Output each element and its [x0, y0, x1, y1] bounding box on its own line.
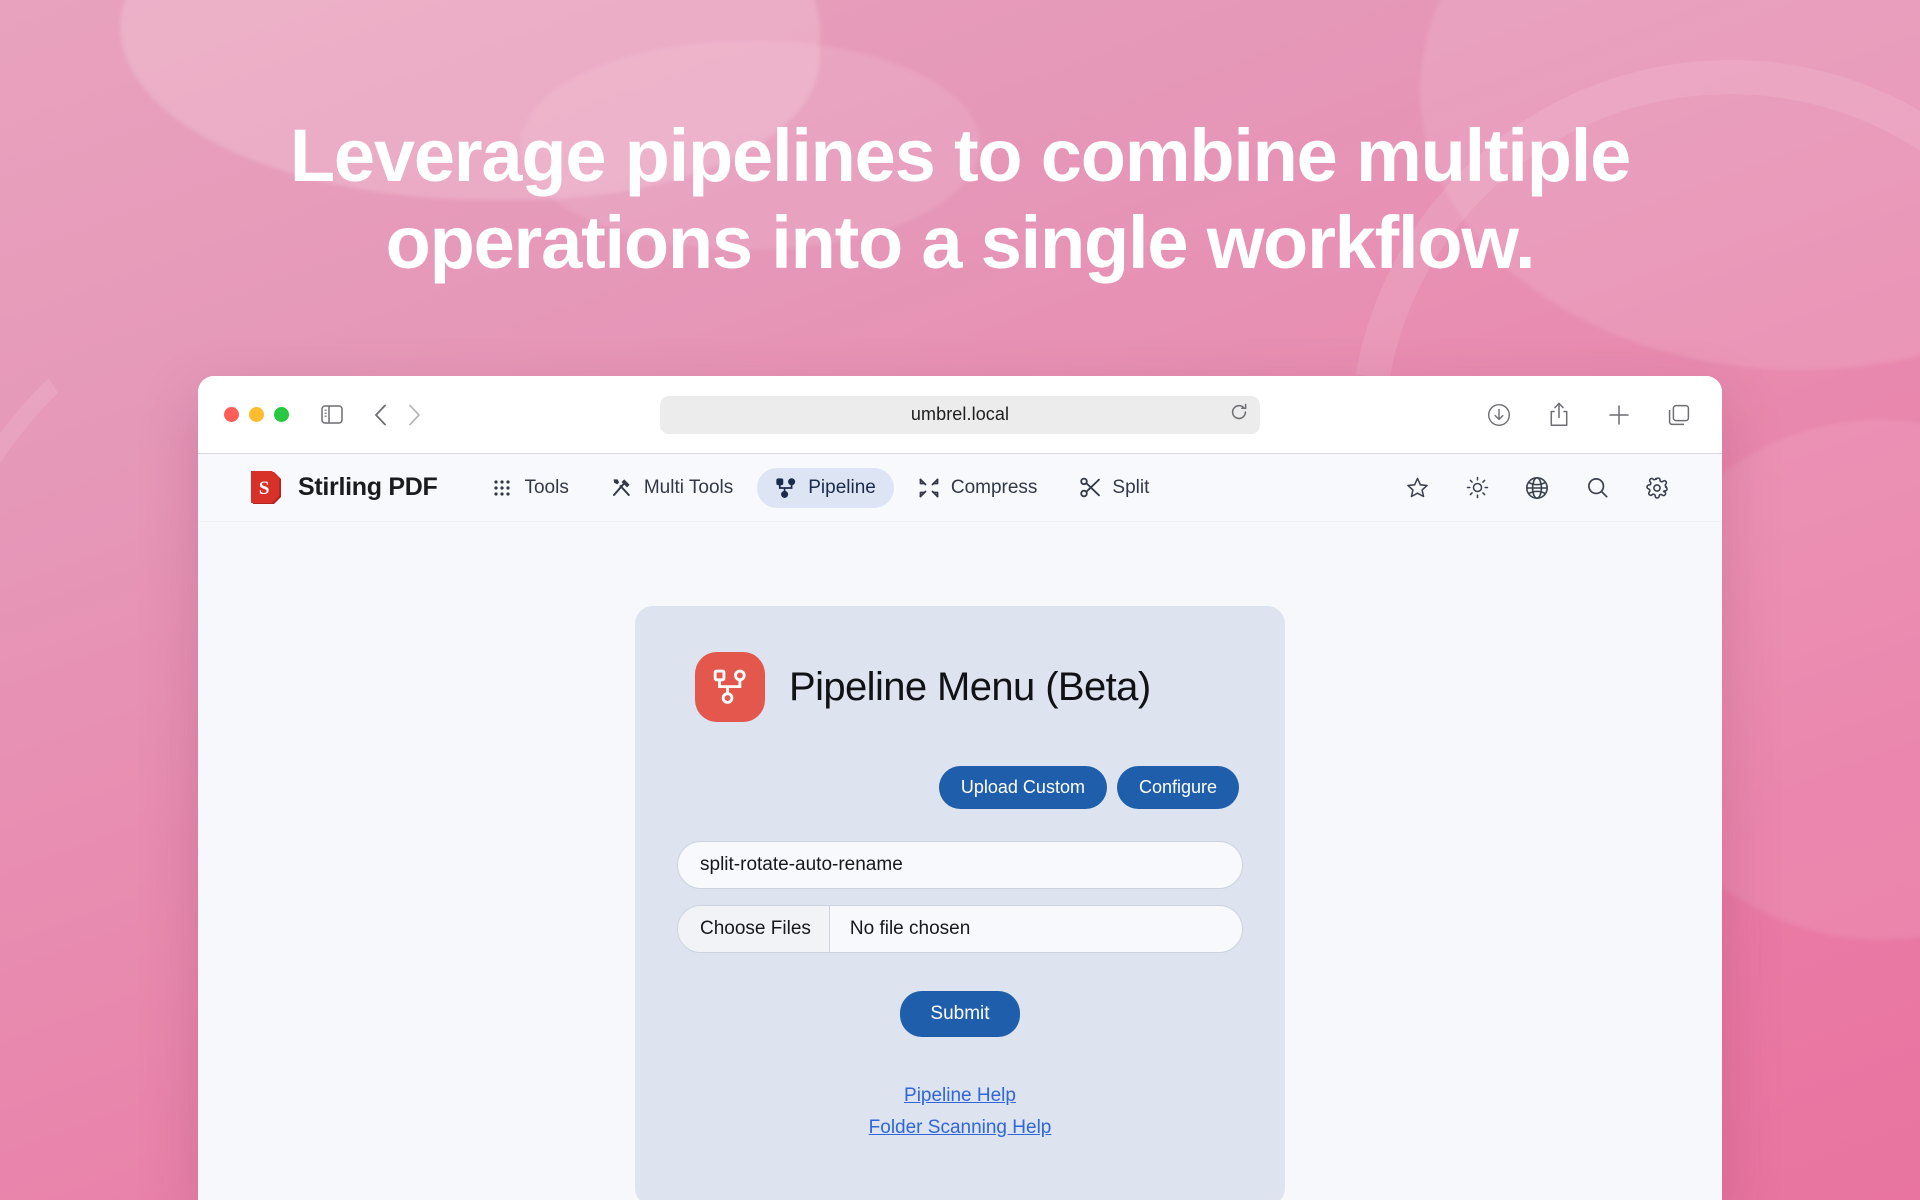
star-icon[interactable] — [1404, 475, 1430, 501]
search-icon[interactable] — [1584, 475, 1610, 501]
stirling-pdf-logo-icon: S — [250, 470, 284, 506]
browser-window: umbrel.local — [198, 376, 1722, 1200]
pipeline-menu-card: Pipeline Menu (Beta) Upload Custom Confi… — [635, 606, 1285, 1200]
pipeline-config-input[interactable]: split-rotate-auto-rename — [677, 841, 1243, 889]
scissors-icon — [1079, 477, 1101, 499]
sidebar-icon[interactable] — [315, 398, 349, 432]
page-body: Pipeline Menu (Beta) Upload Custom Confi… — [198, 522, 1722, 1200]
folder-scanning-help-link[interactable]: Folder Scanning Help — [677, 1117, 1243, 1139]
window-controls[interactable] — [224, 407, 289, 422]
nav-item-label: Split — [1112, 477, 1149, 499]
chevron-right-icon[interactable] — [397, 398, 431, 432]
nav-item-split[interactable]: Split — [1061, 468, 1167, 508]
pipeline-nodes-icon — [695, 652, 765, 722]
reload-icon[interactable] — [1230, 403, 1248, 426]
nav-item-label: Tools — [524, 477, 568, 499]
help-links: Pipeline Help Folder Scanning Help — [677, 1085, 1243, 1139]
nav-item-label: Multi Tools — [644, 477, 733, 499]
page-title: Pipeline Menu (Beta) — [789, 665, 1151, 710]
zoom-window-button[interactable] — [274, 407, 289, 422]
configure-button[interactable]: Configure — [1117, 766, 1239, 809]
svg-text:S: S — [259, 478, 270, 499]
close-window-button[interactable] — [224, 407, 239, 422]
app-header: S Stirling PDF Tools — [198, 454, 1722, 522]
app-header-icons — [1404, 475, 1722, 501]
browser-toolbar: umbrel.local — [198, 376, 1722, 454]
main-nav: Tools Multi Tools — [473, 468, 1167, 508]
promo-headline: Leverage pipelines to combine multiple o… — [0, 112, 1920, 287]
card-actions: Upload Custom Configure — [677, 766, 1243, 809]
upload-custom-button[interactable]: Upload Custom — [939, 766, 1107, 809]
pipeline-nodes-icon — [775, 477, 797, 499]
tab-overview-icon[interactable] — [1662, 398, 1696, 432]
sun-icon[interactable] — [1464, 475, 1490, 501]
pipeline-config-value: split-rotate-auto-rename — [678, 854, 903, 876]
headline-line-2: operations into a single workflow. — [130, 199, 1790, 286]
brand[interactable]: S Stirling PDF — [250, 470, 437, 506]
grid-dots-icon — [491, 477, 513, 499]
gear-icon[interactable] — [1644, 475, 1670, 501]
nav-item-label: Compress — [951, 477, 1038, 499]
promo-stage: Leverage pipelines to combine multiple o… — [0, 0, 1920, 1200]
pipeline-help-link[interactable]: Pipeline Help — [677, 1085, 1243, 1107]
compress-arrows-icon — [918, 477, 940, 499]
headline-line-1: Leverage pipelines to combine multiple — [130, 112, 1790, 199]
nav-item-multi-tools[interactable]: Multi Tools — [593, 468, 751, 508]
nav-item-pipeline[interactable]: Pipeline — [757, 468, 894, 508]
hammer-wrench-icon — [611, 477, 633, 499]
address-bar[interactable]: umbrel.local — [660, 396, 1260, 434]
card-header: Pipeline Menu (Beta) — [677, 652, 1243, 722]
submit-row: Submit — [677, 991, 1243, 1037]
new-tab-icon[interactable] — [1602, 398, 1636, 432]
nav-item-compress[interactable]: Compress — [900, 468, 1056, 508]
toolbar-right-icons — [1482, 398, 1696, 432]
download-icon[interactable] — [1482, 398, 1516, 432]
globe-icon[interactable] — [1524, 475, 1550, 501]
url-text: umbrel.local — [911, 404, 1009, 425]
nav-item-tools[interactable]: Tools — [473, 468, 586, 508]
file-status-label: No file chosen — [830, 918, 970, 940]
submit-button[interactable]: Submit — [900, 991, 1019, 1037]
chevron-left-icon[interactable] — [363, 398, 397, 432]
choose-files-button[interactable]: Choose Files — [678, 906, 830, 952]
minimize-window-button[interactable] — [249, 407, 264, 422]
file-input[interactable]: Choose Files No file chosen — [677, 905, 1243, 953]
brand-name: Stirling PDF — [298, 473, 437, 502]
share-icon[interactable] — [1542, 398, 1576, 432]
nav-item-label: Pipeline — [808, 477, 876, 499]
